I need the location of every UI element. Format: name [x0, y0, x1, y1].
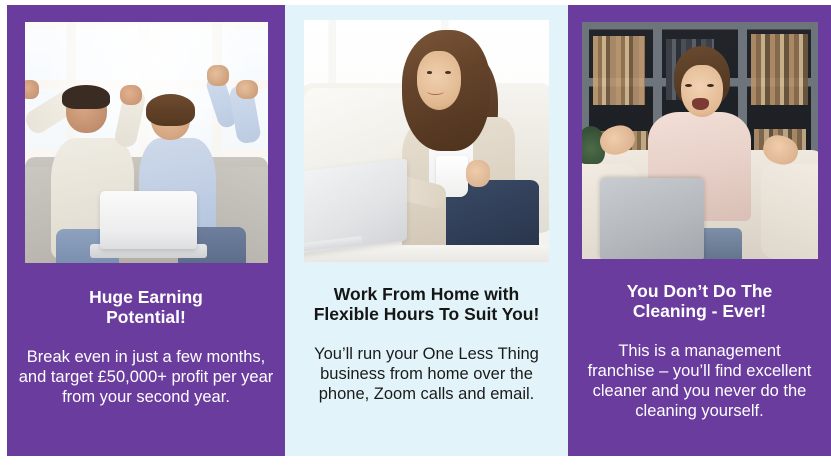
column-body-text: Break even in just a few months, and tar… [0, 347, 292, 407]
woman-eye-right [445, 71, 451, 74]
celebrating-couple-with-laptop-photo [25, 22, 268, 263]
woman-smile-shape [427, 88, 444, 95]
promo-board: Huge Earning Potential! Break even in ju… [0, 0, 831, 466]
books-row-3 [751, 34, 808, 105]
promo-column-no-cleaning: You Don’t Do The Cleaning - Ever! This i… [568, 5, 831, 456]
promo-column-work-from-home: Work From Home with Flexible Hours To Su… [285, 5, 568, 456]
woman-fist-left [207, 65, 229, 85]
promo-column-earning-potential: Huge Earning Potential! Break even in ju… [7, 5, 285, 456]
column-headline: You Don’t Do The Cleaning - Ever! [627, 281, 773, 322]
woman-fist-right [236, 80, 258, 99]
man-fist-left [25, 80, 40, 99]
column-headline: Work From Home with Flexible Hours To Su… [314, 284, 540, 325]
excited-woman-at-laptop-bookshelf-photo [582, 22, 818, 259]
column-body-text: This is a management franchise – you’ll … [574, 341, 826, 422]
laptop-screen-shape [100, 191, 197, 249]
man-hair-shape [62, 85, 109, 109]
woman-with-mug-at-laptop-photo [304, 20, 549, 262]
woman-eye-right [707, 84, 714, 87]
column-body-text: You’ll run your One Less Thing business … [293, 344, 561, 404]
laptop-shape [304, 159, 407, 255]
woman-eye-left [685, 84, 692, 87]
woman-face-shape [417, 51, 461, 109]
man-fist-right [120, 85, 142, 105]
woman-open-mouth-shape [692, 98, 709, 110]
woman-hand-shape [466, 160, 491, 187]
column-headline: Huge Earning Potential! [89, 287, 203, 328]
books-row-1 [593, 36, 645, 105]
sofa-cushion-right [761, 164, 818, 259]
woman-hair-shape [146, 94, 195, 125]
laptop-shape [600, 178, 704, 259]
